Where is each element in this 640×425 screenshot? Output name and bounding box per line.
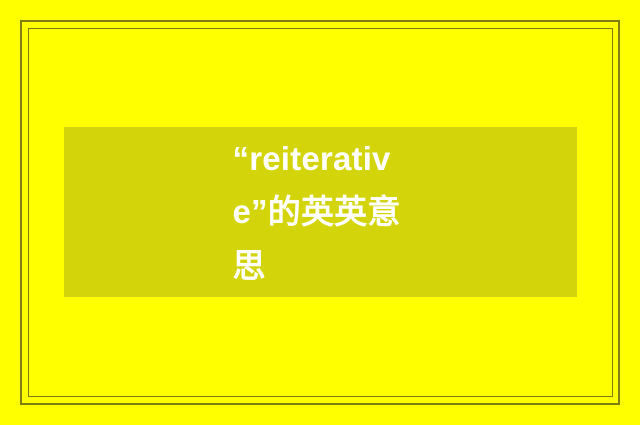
page-canvas: “reiterative”的英英意思 xyxy=(0,0,640,425)
title-panel: “reiterative”的英英意思 xyxy=(64,127,577,297)
page-title: “reiterative”的英英意思 xyxy=(233,132,429,292)
